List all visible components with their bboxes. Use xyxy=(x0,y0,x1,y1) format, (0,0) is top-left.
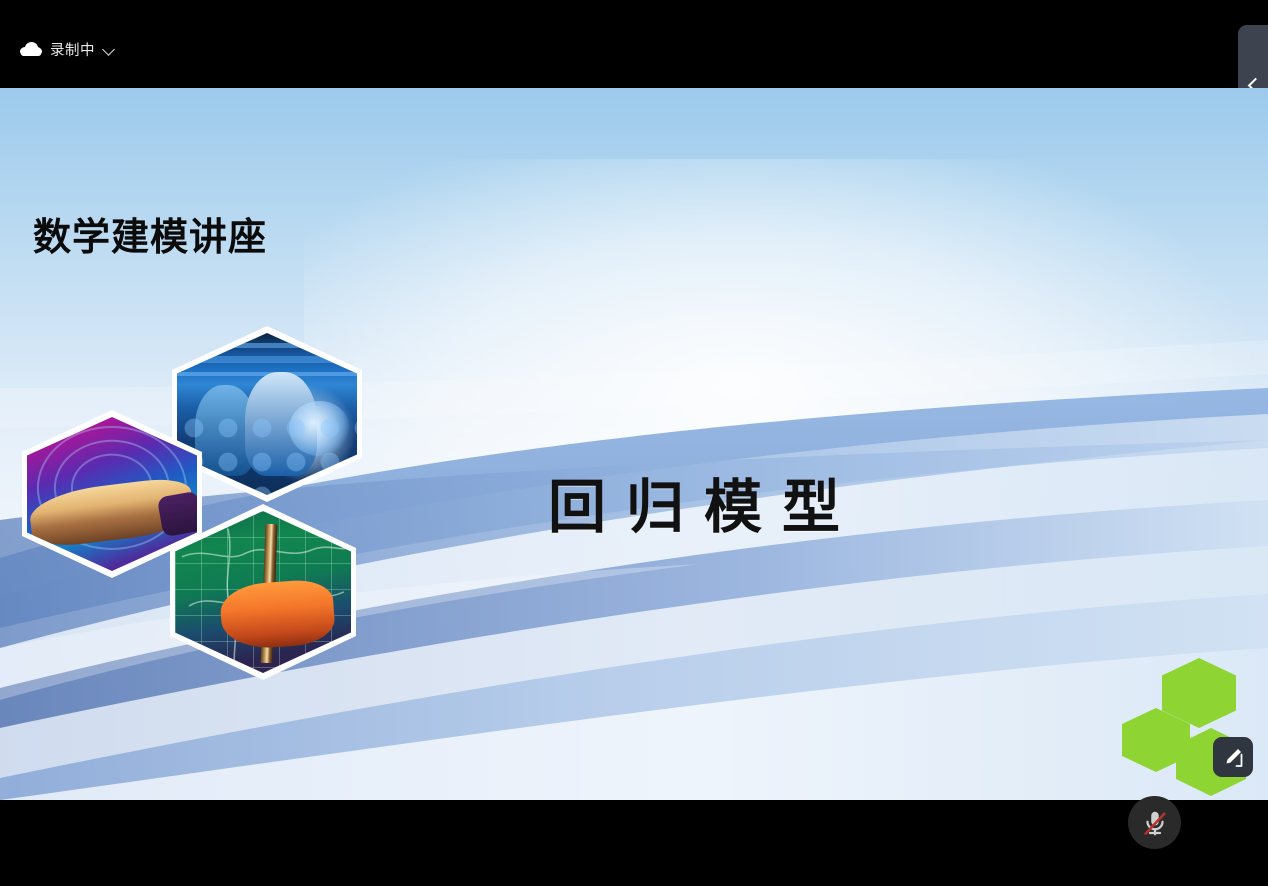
screen-root: 录制中 xyxy=(0,0,1268,886)
pencil-annotate-icon xyxy=(1221,745,1245,769)
slide-background: 数学建模讲座 回归模型 xyxy=(0,88,1268,800)
recording-status-button[interactable]: 录制中 xyxy=(20,36,116,62)
annotate-button[interactable] xyxy=(1213,737,1253,777)
recording-status-label: 录制中 xyxy=(50,39,95,60)
slide-main-title: 回归模型 xyxy=(548,460,860,544)
microphone-button[interactable] xyxy=(1128,796,1181,849)
slide-canvas[interactable]: 数学建模讲座 回归模型 xyxy=(0,88,1268,800)
slide-header-title: 数学建模讲座 xyxy=(33,206,267,261)
cloud-icon xyxy=(20,42,42,56)
top-bar: 录制中 xyxy=(0,0,1268,88)
chevron-down-icon[interactable] xyxy=(103,43,116,56)
hex-image-map-writing xyxy=(170,504,356,680)
microphone-muted-icon xyxy=(1140,808,1170,838)
